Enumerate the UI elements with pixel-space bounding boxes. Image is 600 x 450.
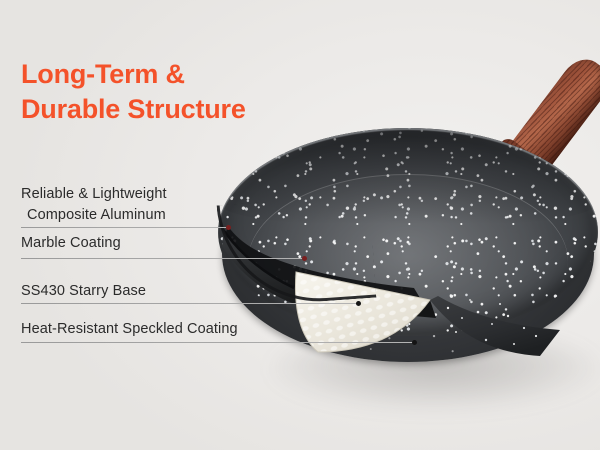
callout-line-1: Marble Coating: [21, 235, 121, 251]
callout-line-2: Composite Aluminum: [21, 205, 167, 226]
callout-dot-ss430-starry-base: [356, 301, 361, 306]
callout-line-1: Reliable & Lightweight: [21, 186, 167, 202]
callout-composite-aluminum: Reliable & Lightweight Composite Aluminu…: [21, 184, 167, 225]
callout-ss430-starry-base: SS430 Starry Base: [21, 283, 146, 299]
callout-rule-composite-aluminum: [21, 227, 228, 228]
callout-list: Reliable & Lightweight Composite Aluminu…: [0, 0, 600, 450]
callout-rule-marble-coating: [21, 258, 304, 259]
callout-dot-composite-aluminum: [226, 225, 231, 230]
callout-dot-marble-coating: [302, 256, 307, 261]
callout-rule-heat-resistant-coating: [21, 342, 414, 343]
callout-rule-ss430-starry-base: [21, 303, 358, 304]
callout-heat-resistant-coating: Heat-Resistant Speckled Coating: [21, 321, 238, 337]
callout-line-1: Heat-Resistant Speckled Coating: [21, 321, 238, 337]
product-feature-banner: Long-Term & Durable Structure Reliable &…: [0, 0, 600, 450]
callout-marble-coating: Marble Coating: [21, 235, 121, 251]
callout-dot-heat-resistant-coating: [412, 340, 417, 345]
callout-line-1: SS430 Starry Base: [21, 283, 146, 299]
